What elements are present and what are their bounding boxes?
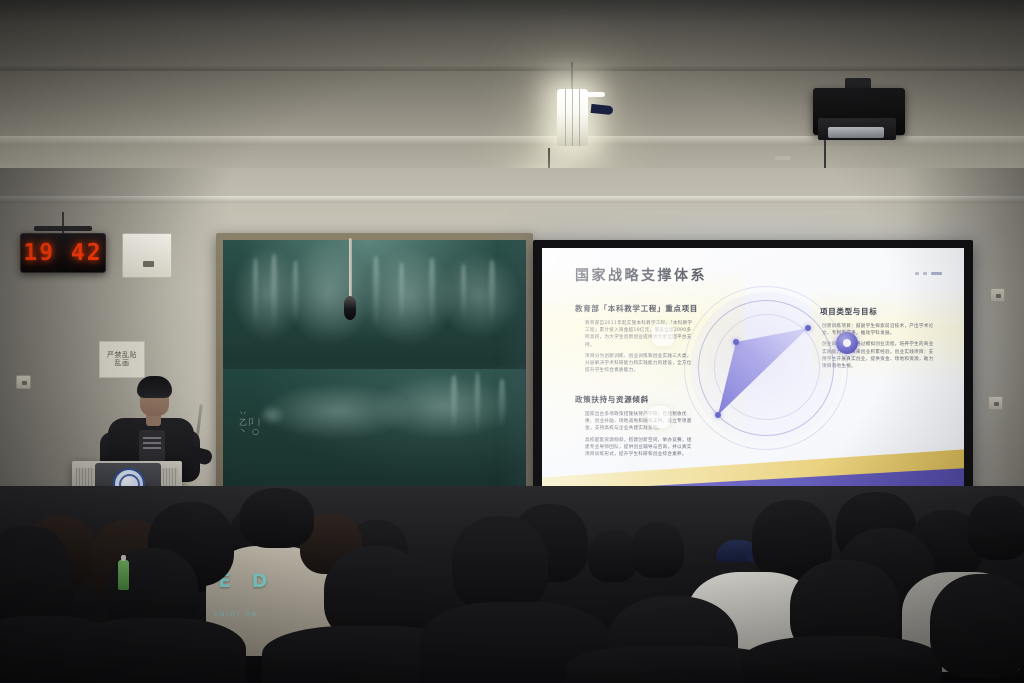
student-head-foreground [452,516,548,612]
audience: E D ENJOY DA... [0,486,1024,683]
section-paragraph: 项目分为创新训练、创业训练和创业实践三大类，分层解决学术科研能力和实践能力的建设… [585,353,693,375]
notice-line-2: 乱画 [115,360,130,367]
diagram-ghost-square-top [652,324,674,346]
wall-outlet-left[interactable] [16,375,31,389]
diagram-node-top-left [733,339,739,345]
diagram-ghost-square-bottom [648,406,670,428]
section-paragraph: 高校配套资源倾斜，搭建创新空间，举办竞赛，组建专业导师团队，提供创业辅导与咨询，… [585,437,693,459]
chalk-smear [373,375,513,439]
presentation-slide: 国家战略支撑体系 教育部「本科教学工程」重点项目 教育部自2011年起实施本科教… [542,248,964,492]
chalk-streak [475,373,480,435]
chalk-streak [499,379,505,429]
chalk-streak [429,258,435,328]
lamp-cap [561,92,605,97]
section-paragraph: 国家出台多项政策措施扶持产学研，包括税收优惠、创业补贴、场地减免和融资支持，设立… [585,411,693,433]
student-head [632,522,684,578]
glasses-icon [142,396,167,402]
lamp-slat [565,89,566,146]
pendant-cord-1 [571,62,573,90]
chalk-smear [437,252,521,338]
chalk-streak [373,256,379,330]
chalk-streak [271,254,277,332]
wall-outlet-right-upper[interactable] [990,288,1005,302]
student-head-foreground [930,574,1024,678]
diagram-triangle [680,282,852,454]
lecture-hall-scene: 19 42 严禁乱贴 乱画 [0,0,1024,683]
section-paragraph: 教育部自2011年起实施本科教学工程，「本科教学工程」累计投入资金超10亿元，覆… [585,320,693,349]
student-head [588,530,638,582]
diagram-node-top-right [805,325,811,331]
chalk-streak [489,260,495,324]
wall-control-box [122,233,172,278]
student-head [240,488,314,548]
diagram-orb-icon [836,332,858,354]
chalkboard-panel-lower: 丷 乙卩丨 丶 ○ [223,369,526,494]
clock-mount [34,226,92,231]
chalk-streak [451,375,457,433]
ceiling-beam-upper [0,66,1024,71]
notice-line-1: 严禁乱贴 [107,352,137,359]
projector-lens [828,127,884,138]
digital-clock: 19 42 [20,233,106,273]
chalk-streak [399,262,404,324]
pager-dot [915,272,919,275]
section-heading-2: 政策扶持与资源倾斜 [575,394,693,405]
ceiling-hook [775,156,791,160]
chalk-streak [253,258,258,328]
slide-column-left: 教育部「本科教学工程」重点项目 教育部自2011年起实施本科教学工程，「本科教学… [575,303,693,378]
jacket-logo-subtext: ENJOY DA... [214,610,269,618]
water-bottle[interactable] [118,560,129,590]
pager-dot [923,272,927,275]
chalk-streak [293,260,298,326]
slide-column-left-2: 政策扶持与资源倾斜 国家出台多项政策措施扶持产学研，包括税收优惠、创业补贴、场地… [575,394,693,462]
slide-page-indicator[interactable] [915,272,942,275]
diagram-node-bottom [715,412,721,418]
student-coat [742,636,942,683]
lamp-slat [579,89,580,146]
lamp-slat [572,89,573,146]
presenter-shirt [139,430,165,462]
student-coat [66,618,246,683]
microphone-icon [344,296,356,320]
projection-screen: 国家战略支撑体系 教育部「本科教学工程」重点项目 教育部自2011年起实施本科教… [533,240,973,502]
wall-notice-sign: 严禁乱贴 乱画 [99,341,145,378]
chalkboard-surface: 丷 乙卩丨 丶 ○ [223,240,526,494]
chalk-streak [461,264,466,322]
pendant-lamp-1 [557,89,588,146]
chalkboard-panel-upper [223,240,526,365]
microphone-cable [349,238,352,300]
pager-dot-active [931,272,942,275]
presenter-hair [137,376,172,398]
section-body-1: 教育部自2011年起实施本科教学工程，「本科教学工程」累计投入资金超10亿元，覆… [575,320,693,374]
radar-diagram [680,282,852,454]
chalkboard: 丷 乙卩丨 丶 ○ [216,233,533,501]
wall-outlet-right-lower[interactable] [988,396,1003,410]
section-body-2: 国家出台多项政策措施扶持产学研，包括税收优惠、创业补贴、场地减免和融资支持，设立… [575,411,693,458]
chalk-smear [259,405,285,425]
clock-time: 19 42 [23,240,102,266]
section-heading-1: 教育部「本科教学工程」重点项目 [575,303,693,314]
student-head [968,496,1024,560]
